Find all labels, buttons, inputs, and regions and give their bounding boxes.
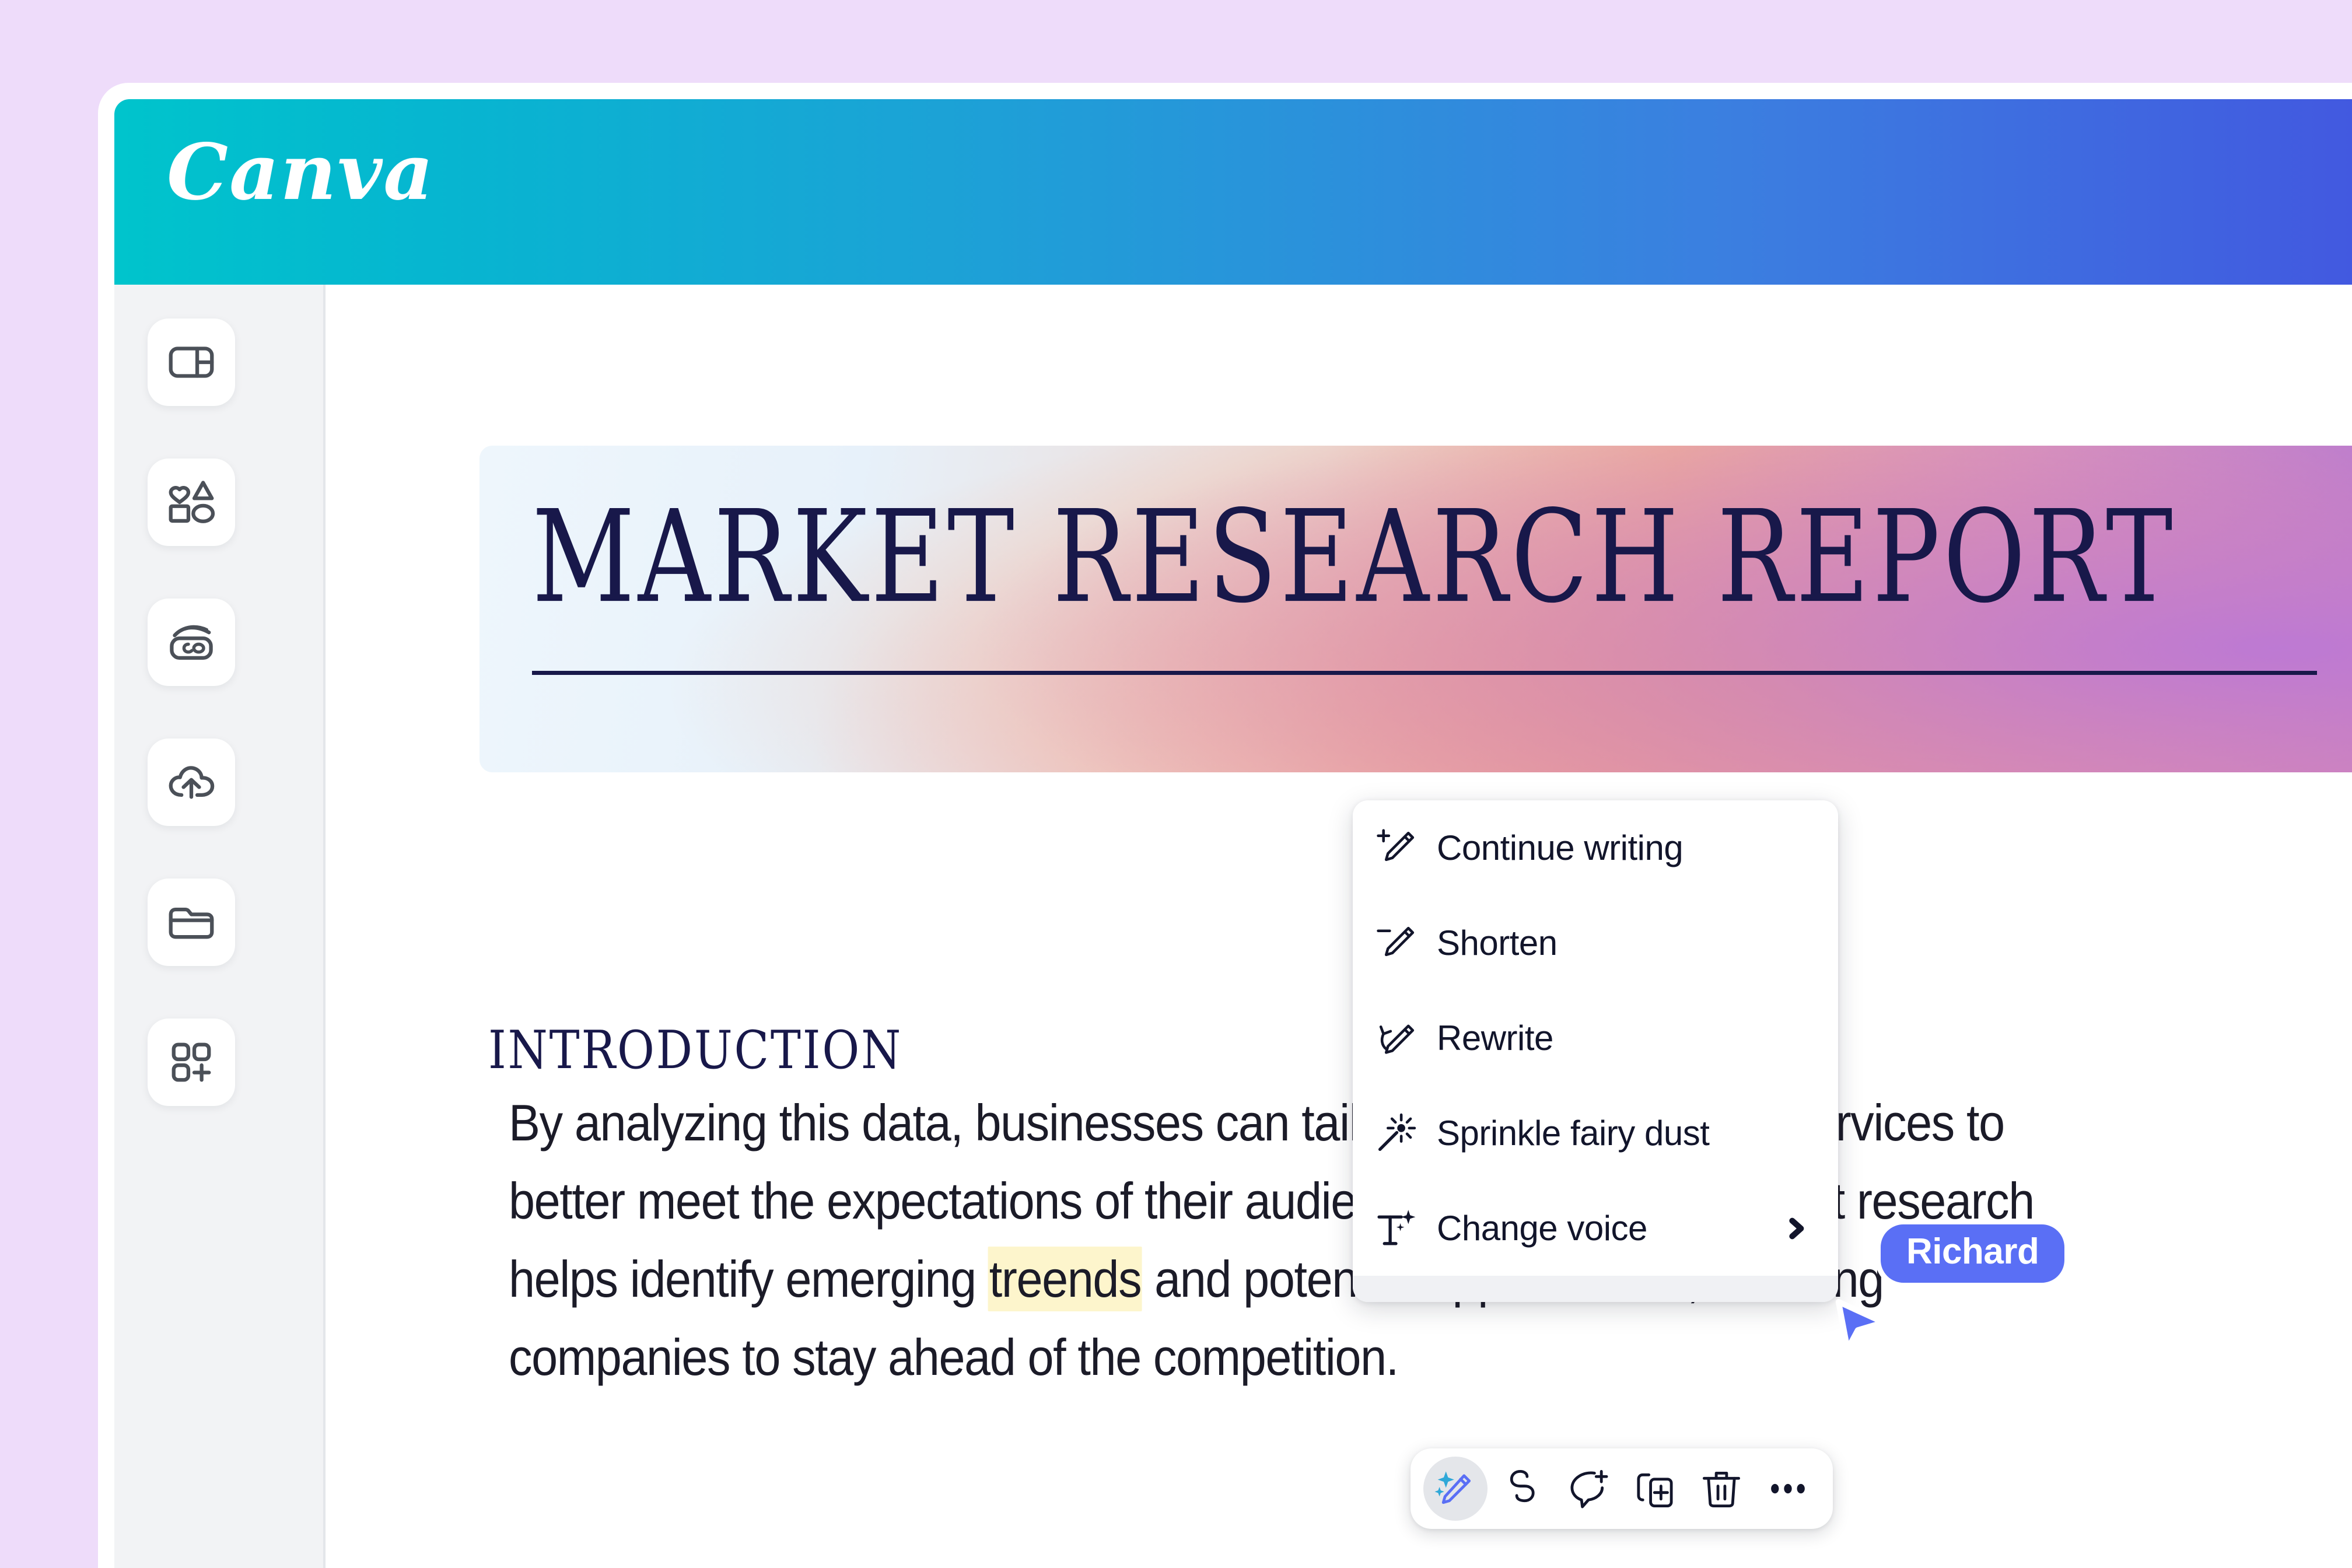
menu-item-continue-writing[interactable]: Continue writing <box>1353 800 1838 895</box>
canva-logo[interactable]: Canva <box>167 134 435 211</box>
sidebar-item-apps[interactable] <box>148 1019 235 1106</box>
menu-item-label: Sprinkle fairy dust <box>1437 1113 1709 1153</box>
menu-item-fix-spelling[interactable]: ABC Fix spelling <box>1353 1276 1838 1302</box>
apps-plus-icon <box>167 1038 216 1087</box>
title-divider-rule <box>532 671 2317 675</box>
sidebar-item-elements[interactable] <box>148 459 235 546</box>
left-sidebar <box>114 285 325 1568</box>
abc-spellcheck-icon: ABC <box>1374 1301 1418 1303</box>
collaborator-name-badge: Richard <box>1875 1219 2070 1288</box>
ai-assistant-menu: Continue writing Shorten <box>1353 800 1838 1302</box>
design-layout-icon <box>167 338 216 387</box>
element-toolbar <box>1410 1448 1833 1529</box>
title-banner[interactable]: MARKET RESEARCH REPORT <box>480 446 2352 772</box>
menu-item-label: Continue writing <box>1437 828 1683 868</box>
text-sparkle-icon <box>1374 1206 1418 1251</box>
pencil-rotate-icon <box>1374 1016 1418 1060</box>
menu-item-shorten[interactable]: Shorten <box>1353 895 1838 991</box>
folder-icon <box>167 898 216 947</box>
canva-app-window: Canva <box>98 83 2352 1568</box>
cloud-upload-icon <box>167 758 216 807</box>
section-heading[interactable]: INTRODUCTION <box>488 1024 902 1077</box>
menu-item-label: Change voice <box>1437 1208 1647 1248</box>
menu-item-change-voice[interactable]: Change voice <box>1353 1181 1838 1276</box>
document-title[interactable]: MARKET RESEARCH REPORT <box>532 494 2176 621</box>
menu-item-label: Rewrite <box>1437 1018 1553 1058</box>
collaborator-cursor-icon <box>1827 1290 1891 1354</box>
sidebar-item-brand[interactable] <box>148 598 235 686</box>
sidebar-item-design[interactable] <box>148 318 235 406</box>
sidebar-item-projects[interactable] <box>148 878 235 966</box>
misspelled-word-highlight[interactable]: treends <box>988 1247 1142 1311</box>
magic-wand-icon <box>1374 1111 1418 1156</box>
delete-button[interactable] <box>1689 1457 1753 1521</box>
comment-button[interactable] <box>1556 1457 1620 1521</box>
magic-write-icon <box>1434 1467 1477 1510</box>
link-button[interactable] <box>1490 1457 1554 1521</box>
shapes-elements-icon <box>167 478 216 527</box>
menu-item-sprinkle-fairy-dust[interactable]: Sprinkle fairy dust <box>1353 1086 1838 1181</box>
brand-kit-icon <box>167 618 216 667</box>
sidebar-item-uploads[interactable] <box>148 738 235 826</box>
app-header: Canva <box>114 99 2352 285</box>
link-icon <box>1500 1467 1543 1510</box>
menu-item-rewrite[interactable]: Rewrite <box>1353 991 1838 1086</box>
duplicate-button[interactable] <box>1623 1457 1687 1521</box>
magic-write-button[interactable] <box>1423 1457 1487 1521</box>
more-options-button[interactable] <box>1756 1457 1820 1521</box>
more-dots-icon <box>1766 1467 1810 1510</box>
chevron-right-icon <box>1784 1217 1808 1240</box>
comment-add-icon <box>1567 1467 1610 1510</box>
trash-icon <box>1700 1467 1743 1510</box>
pencil-minus-icon <box>1374 921 1418 965</box>
document-canvas: MARKET RESEARCH REPORT INTRODUCTION By a… <box>328 285 2352 1568</box>
pencil-plus-icon <box>1374 826 1418 870</box>
menu-item-label: Shorten <box>1437 923 1557 963</box>
document-page: MARKET RESEARCH REPORT INTRODUCTION By a… <box>328 285 2352 1568</box>
duplicate-icon <box>1633 1467 1676 1510</box>
